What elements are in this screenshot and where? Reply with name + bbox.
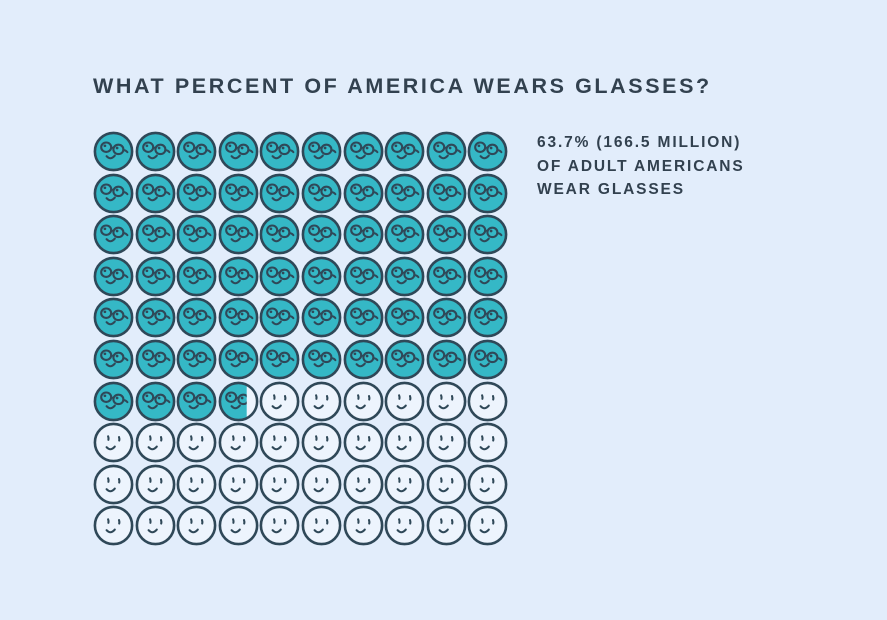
face-with-glasses-icon <box>426 339 467 380</box>
face-with-glasses-icon <box>426 297 467 338</box>
face-with-glasses-icon <box>135 214 176 255</box>
face-with-glasses-icon <box>259 297 300 338</box>
face-without-glasses-icon <box>176 505 217 546</box>
face-without-glasses-icon <box>135 464 176 505</box>
face-without-glasses-icon <box>93 464 134 505</box>
face-without-glasses-icon <box>176 422 217 463</box>
face-with-glasses-icon <box>218 131 259 172</box>
face-with-glasses-icon <box>93 381 134 422</box>
face-without-glasses-icon <box>384 422 425 463</box>
face-partially-filled-icon <box>218 381 259 422</box>
face-with-glasses-icon <box>384 173 425 214</box>
face-with-glasses-icon <box>218 339 259 380</box>
face-without-glasses-icon <box>259 422 300 463</box>
pictogram-row <box>93 381 508 423</box>
page-title: WHAT PERCENT OF AMERICA WEARS GLASSES? <box>93 74 712 100</box>
face-with-glasses-icon <box>426 256 467 297</box>
face-with-glasses-icon <box>135 173 176 214</box>
face-with-glasses-icon <box>93 339 134 380</box>
face-with-glasses-icon <box>93 131 134 172</box>
face-without-glasses-icon <box>467 505 508 546</box>
face-without-glasses-icon <box>384 505 425 546</box>
face-with-glasses-icon <box>301 339 342 380</box>
face-with-glasses-icon <box>301 256 342 297</box>
face-with-glasses-icon <box>467 131 508 172</box>
stat-callout: 63.7% (166.5 MILLION) OF ADULT AMERICANS… <box>537 131 745 202</box>
face-with-glasses-icon <box>93 214 134 255</box>
face-with-glasses-icon <box>301 131 342 172</box>
pictogram-row <box>93 214 508 256</box>
face-with-glasses-icon <box>384 339 425 380</box>
pictogram-row <box>93 256 508 298</box>
face-without-glasses-icon <box>218 422 259 463</box>
face-with-glasses-icon <box>426 214 467 255</box>
face-with-glasses-icon <box>218 214 259 255</box>
pictogram-row <box>93 422 508 464</box>
face-with-glasses-icon <box>93 173 134 214</box>
face-with-glasses-icon <box>176 173 217 214</box>
face-without-glasses-icon <box>343 422 384 463</box>
face-with-glasses-icon <box>93 297 134 338</box>
face-without-glasses-icon <box>259 505 300 546</box>
face-with-glasses-icon <box>384 131 425 172</box>
face-with-glasses-icon <box>176 297 217 338</box>
face-without-glasses-icon <box>93 505 134 546</box>
face-with-glasses-icon <box>301 214 342 255</box>
face-without-glasses-icon <box>135 505 176 546</box>
face-without-glasses-icon <box>218 464 259 505</box>
face-without-glasses-icon <box>301 505 342 546</box>
face-without-glasses-icon <box>343 505 384 546</box>
pictogram-row <box>93 173 508 215</box>
face-with-glasses-icon <box>259 173 300 214</box>
face-with-glasses-icon <box>467 297 508 338</box>
pictogram-row <box>93 131 508 173</box>
face-without-glasses-icon <box>135 422 176 463</box>
face-with-glasses-icon <box>218 256 259 297</box>
face-without-glasses-icon <box>218 505 259 546</box>
face-with-glasses-icon <box>93 256 134 297</box>
face-with-glasses-icon <box>384 256 425 297</box>
pictogram-row <box>93 505 508 547</box>
face-without-glasses-icon <box>343 381 384 422</box>
pictogram-row <box>93 297 508 339</box>
face-with-glasses-icon <box>426 173 467 214</box>
face-with-glasses-icon <box>343 256 384 297</box>
stat-line-percent: 63.7% (166.5 MILLION) <box>537 131 745 155</box>
pictogram-row <box>93 339 508 381</box>
stat-line-action: WEAR GLASSES <box>537 178 745 202</box>
face-with-glasses-icon <box>218 297 259 338</box>
face-without-glasses-icon <box>259 464 300 505</box>
face-with-glasses-icon <box>135 297 176 338</box>
face-with-glasses-icon <box>343 173 384 214</box>
face-with-glasses-icon <box>467 256 508 297</box>
infographic-canvas: WHAT PERCENT OF AMERICA WEARS GLASSES? 6… <box>0 0 887 620</box>
face-with-glasses-icon <box>467 173 508 214</box>
face-with-glasses-icon <box>218 173 259 214</box>
pictogram-grid <box>93 131 508 566</box>
face-with-glasses-icon <box>176 256 217 297</box>
face-with-glasses-icon <box>135 256 176 297</box>
face-without-glasses-icon <box>426 381 467 422</box>
face-with-glasses-icon <box>426 131 467 172</box>
face-without-glasses-icon <box>426 505 467 546</box>
face-with-glasses-icon <box>384 297 425 338</box>
stat-line-subject: OF ADULT AMERICANS <box>537 155 745 179</box>
face-with-glasses-icon <box>301 297 342 338</box>
face-without-glasses-icon <box>384 381 425 422</box>
face-with-glasses-icon <box>259 214 300 255</box>
face-without-glasses-icon <box>467 464 508 505</box>
face-with-glasses-icon <box>176 214 217 255</box>
face-with-glasses-icon <box>343 297 384 338</box>
face-with-glasses-icon <box>176 381 217 422</box>
face-without-glasses-icon <box>176 464 217 505</box>
face-without-glasses-icon <box>259 381 300 422</box>
face-with-glasses-icon <box>135 339 176 380</box>
face-with-glasses-icon <box>176 339 217 380</box>
face-without-glasses-icon <box>467 422 508 463</box>
face-without-glasses-icon <box>426 422 467 463</box>
face-with-glasses-icon <box>384 214 425 255</box>
face-with-glasses-icon <box>343 339 384 380</box>
face-with-glasses-icon <box>343 131 384 172</box>
face-without-glasses-icon <box>301 381 342 422</box>
face-without-glasses-icon <box>467 381 508 422</box>
face-without-glasses-icon <box>426 464 467 505</box>
face-without-glasses-icon <box>301 464 342 505</box>
face-without-glasses-icon <box>343 464 384 505</box>
face-with-glasses-icon <box>259 256 300 297</box>
face-without-glasses-icon <box>384 464 425 505</box>
face-with-glasses-icon <box>135 131 176 172</box>
face-without-glasses-icon <box>301 422 342 463</box>
face-without-glasses-icon <box>93 422 134 463</box>
face-with-glasses-icon <box>135 381 176 422</box>
pictogram-row <box>93 464 508 506</box>
face-with-glasses-icon <box>259 339 300 380</box>
face-with-glasses-icon <box>176 131 217 172</box>
face-with-glasses-icon <box>467 214 508 255</box>
face-with-glasses-icon <box>467 339 508 380</box>
face-with-glasses-icon <box>343 214 384 255</box>
face-with-glasses-icon <box>301 173 342 214</box>
face-with-glasses-icon <box>259 131 300 172</box>
